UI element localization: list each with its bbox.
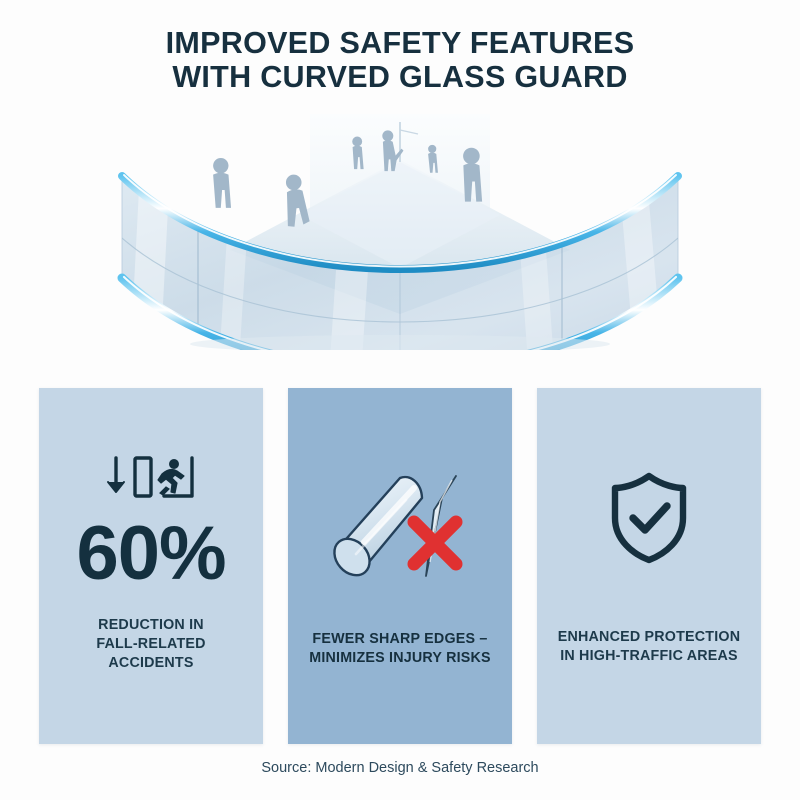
- caption-line: IN HIGH-TRAFFIC AREAS: [545, 647, 753, 666]
- stat-caption-sharp-edges: FEWER SHARP EDGES – MINIMIZES INJURY RIS…: [296, 630, 504, 668]
- fall-hazard-icon: [39, 452, 263, 509]
- stat-cards-row: 60% REDUCTION IN FALL-RELATED ACCIDENTS: [0, 388, 800, 744]
- rounded-edge-vs-sharp-shard-icon: [288, 450, 512, 605]
- stat-card-fall-reduction[interactable]: 60% REDUCTION IN FALL-RELATED ACCIDENTS: [39, 388, 263, 744]
- source-attribution: Source: Modern Design & Safety Research: [0, 760, 800, 776]
- caption-line: REDUCTION IN: [47, 616, 255, 635]
- page-title-line-2: WITH CURVED GLASS GUARD: [0, 60, 800, 94]
- caption-line: ACCIDENTS: [47, 654, 255, 673]
- stat-caption-enhanced-protection: ENHANCED PROTECTION IN HIGH-TRAFFIC AREA…: [545, 628, 753, 666]
- caption-line: FALL-RELATED: [47, 635, 255, 654]
- page-title: IMPROVED SAFETY FEATURES WITH CURVED GLA…: [0, 26, 800, 94]
- stat-caption-fall-reduction: REDUCTION IN FALL-RELATED ACCIDENTS: [47, 616, 255, 673]
- curved-glass-guard-illustration: [100, 100, 700, 350]
- stat-card-enhanced-protection[interactable]: ENHANCED PROTECTION IN HIGH-TRAFFIC AREA…: [537, 388, 761, 744]
- page-title-line-1: IMPROVED SAFETY FEATURES: [0, 26, 800, 60]
- shield-check-icon: [537, 470, 761, 569]
- caption-line: MINIMIZES INJURY RISKS: [296, 649, 504, 668]
- stat-card-sharp-edges[interactable]: FEWER SHARP EDGES – MINIMIZES INJURY RIS…: [288, 388, 512, 744]
- stat-value-fall-reduction: 60%: [39, 513, 263, 595]
- caption-line: FEWER SHARP EDGES –: [296, 630, 504, 649]
- person-silhouette-1: [213, 158, 231, 208]
- rounded-cylinder: [327, 477, 422, 582]
- caption-line: ENHANCED PROTECTION: [545, 628, 753, 647]
